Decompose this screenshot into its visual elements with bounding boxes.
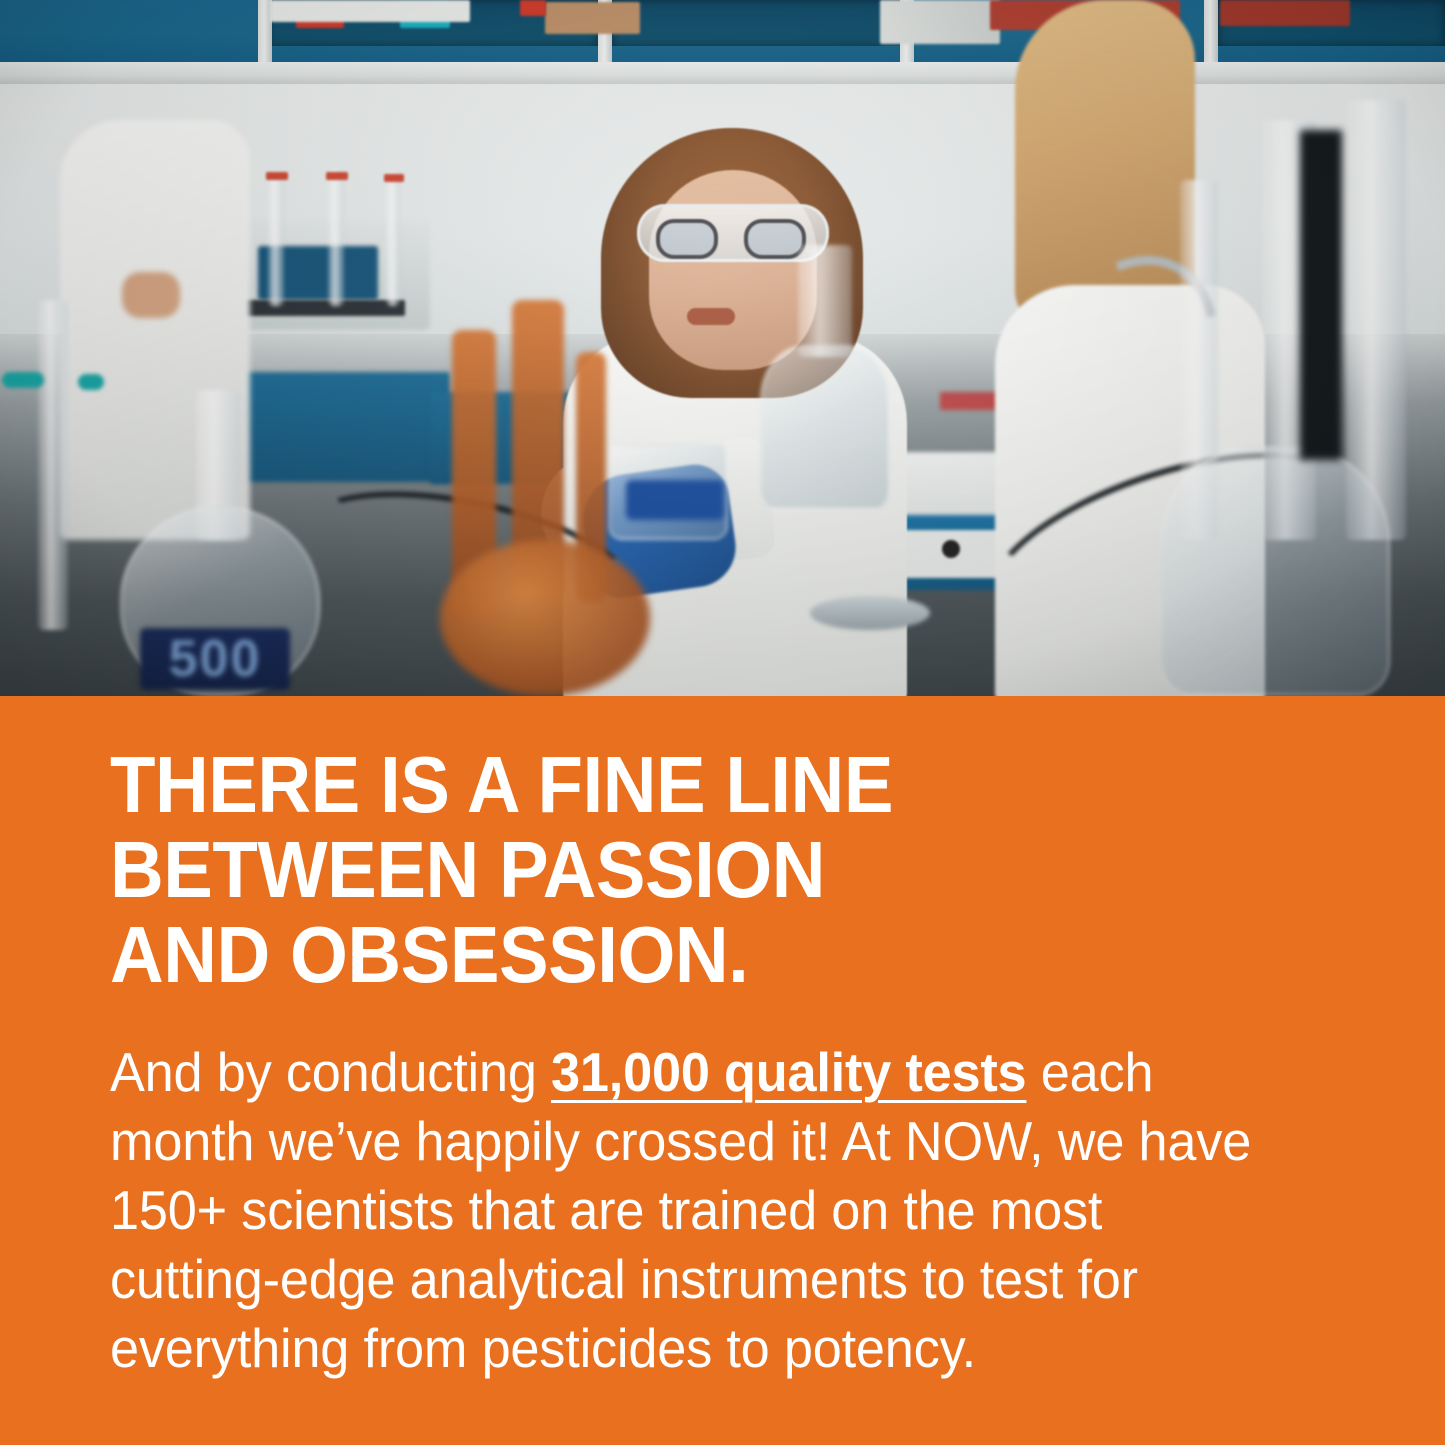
flask-volume-label: 500 <box>140 628 290 690</box>
foreground-flask-right-body <box>1160 446 1390 696</box>
quality-tests-highlight: 31,000 quality tests <box>551 1041 1026 1103</box>
cabinet-contents-white <box>270 0 470 22</box>
test-tube-4 <box>386 172 400 306</box>
headline: THERE IS A FINE LINE BETWEEN PASSION AND… <box>110 742 1273 997</box>
test-tube-3 <box>328 170 344 306</box>
test-tube-2 <box>268 172 284 306</box>
scientist-center-mouth <box>687 308 735 325</box>
goggles-lens-left <box>656 219 718 259</box>
amber-flask-bulb <box>440 540 650 696</box>
teal-marker-2 <box>78 374 104 390</box>
cabinet-glass-pane-2 <box>612 0 902 46</box>
scientist-left-hand <box>122 272 180 318</box>
dark-column-right <box>1300 130 1342 460</box>
tube-cap-red-1 <box>266 172 288 180</box>
foreground-flask-right <box>1160 430 1390 696</box>
erlenmeyer-neck <box>798 245 852 357</box>
tube-cap-red-2 <box>326 172 348 180</box>
erlenmeyer-flask <box>760 245 890 510</box>
body-copy: And by conducting 31,000 quality tests e… <box>110 1038 1274 1383</box>
foreground-pipette-left <box>38 300 68 630</box>
lab-quality-promo-card: 500 THERE IS A FINE LINE BETWEEN PASSION… <box>0 0 1445 1445</box>
petri-dish <box>810 596 930 630</box>
cabinet-contents-box <box>545 2 640 34</box>
erlenmeyer-body <box>760 345 890 510</box>
cabinet-contents-red-2 <box>520 0 546 16</box>
teal-marker-1 <box>2 372 44 388</box>
laboratory-photo: 500 <box>0 0 1445 696</box>
lab-instrument-knob <box>942 540 960 558</box>
blue-liquid <box>626 480 724 520</box>
body-copy-lead: And by conducting <box>110 1041 551 1103</box>
tube-cap-red-3 <box>384 174 404 182</box>
